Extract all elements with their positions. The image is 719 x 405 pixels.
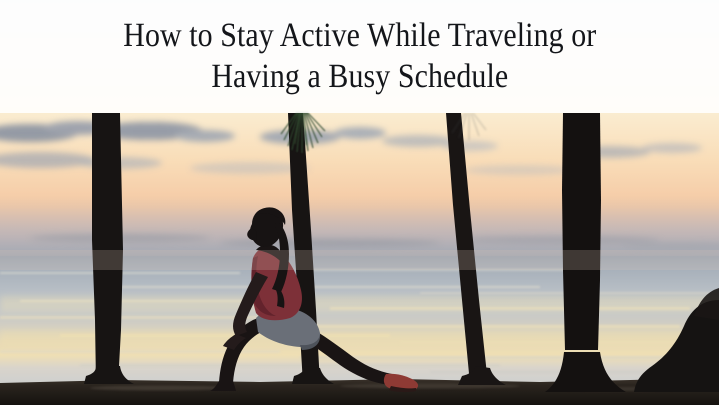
- blog-header-image: How to Stay Active While Traveling or Ha…: [0, 0, 719, 405]
- page-title: How to Stay Active While Traveling or Ha…: [123, 16, 596, 98]
- page-title-line-2: Having a Busy Schedule: [123, 57, 596, 98]
- title-banner: How to Stay Active While Traveling or Ha…: [0, 0, 719, 113]
- horizon-haze: [0, 250, 719, 270]
- page-title-line-1: How to Stay Active While Traveling or: [123, 16, 596, 57]
